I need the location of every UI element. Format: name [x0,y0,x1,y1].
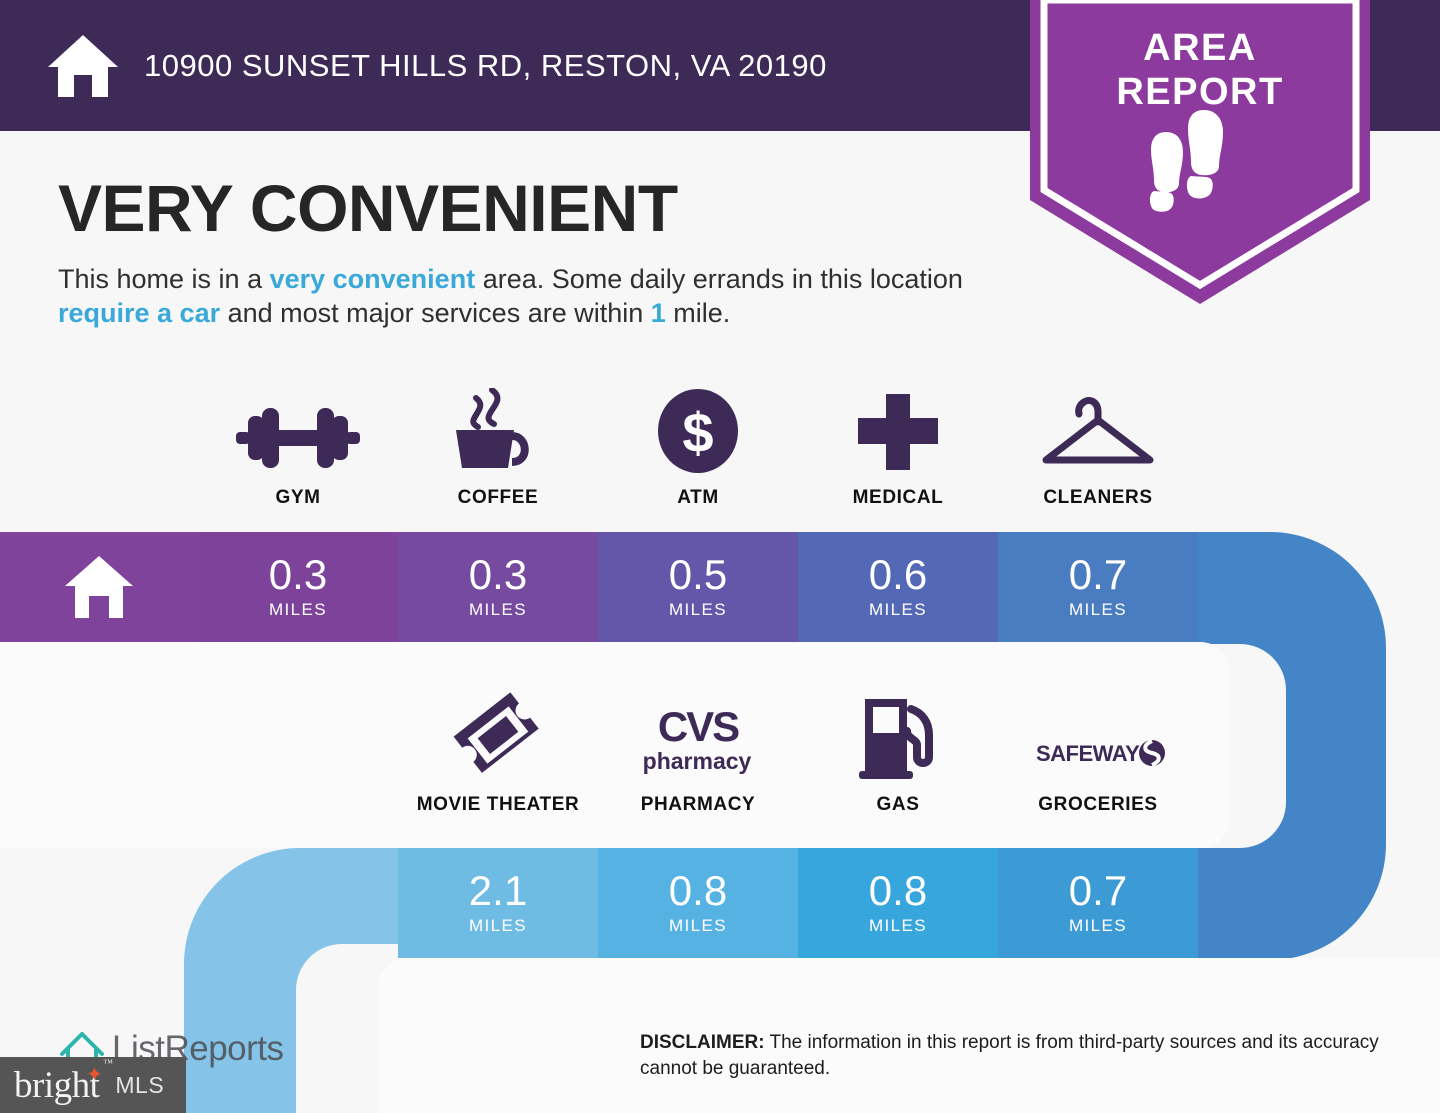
distance-segment-coffee: 0.3 MILES [398,532,598,642]
summary-description: This home is in a very convenient area. … [58,262,1018,330]
distance-segment-atm: 0.5 MILES [598,532,798,642]
distance-value: 0.7 [1069,870,1127,912]
distance-value: 0.3 [269,554,327,596]
distance-unit: MILES [469,916,527,936]
amenity-medical[interactable]: MEDICAL [798,388,998,509]
summary-highlight-2: require a car [58,298,220,328]
movie-ticket-icon [450,695,546,781]
disclaimer-label: DISCLAIMER: [640,1032,765,1053]
amenity-label: GYM [275,487,320,509]
svg-text:SAFEWAY: SAFEWAY [1036,741,1140,766]
amenity-label: PHARMACY [641,794,756,816]
gas-pump-icon [855,695,941,781]
svg-text:CVS: CVS [658,703,739,750]
summary-text-3: and most major services are within [220,298,651,328]
distance-value: 0.8 [869,870,927,912]
distance-unit: MILES [269,600,327,620]
distance-unit: MILES [869,600,927,620]
distance-segment-cleaners: 0.7 MILES [998,532,1198,642]
distance-segment-gas: 0.8 MILES [798,848,998,958]
summary-text-4: mile. [666,298,731,328]
distance-value: 2.1 [469,870,527,912]
amenity-icon-row-2: MOVIE THEATER CVS pharmacy PHARMACY GA [398,695,1198,816]
summary-highlight-3: 1 [651,298,666,328]
medical-cross-icon [855,388,941,474]
distance-unit: MILES [469,600,527,620]
mls-label: MLS [115,1072,164,1099]
summary-text-1: This home is in a [58,264,270,294]
coffee-cup-icon [448,388,548,474]
distance-value: 0.5 [669,554,727,596]
amenity-pharmacy[interactable]: CVS pharmacy PHARMACY [598,695,798,816]
area-report-badge: AREA REPORT [1030,0,1370,304]
bright-mls-watermark: bright ✦ ™ MLS [0,1057,186,1113]
distance-unit: MILES [1069,916,1127,936]
amenity-gym[interactable]: GYM [198,388,398,509]
amenity-movie-theater[interactable]: MOVIE THEATER [398,695,598,816]
distance-segment-gym: 0.3 MILES [198,532,398,642]
amenity-label: GROCERIES [1038,794,1157,816]
area-report-infographic: 10900 SUNSET HILLS RD, RESTON, VA 20190 … [0,0,1440,1113]
distance-segment-medical: 0.6 MILES [798,532,998,642]
amenity-label: CLEANERS [1043,487,1152,509]
amenity-label: ATM [677,487,719,509]
amenity-label: GAS [877,794,920,816]
amenity-icon-row-1: GYM COFFEE $ ATM [198,388,1198,509]
amenity-gas[interactable]: GAS [798,695,998,816]
safeway-logo: SAFEWAY [1028,695,1168,781]
amenity-atm[interactable]: $ ATM [598,388,798,509]
svg-text:pharmacy: pharmacy [643,748,752,774]
amenity-label: MEDICAL [853,487,944,509]
star-icon: ✦ [86,1062,102,1087]
home-icon [44,31,122,101]
property-address: 10900 SUNSET HILLS RD, RESTON, VA 20190 [144,48,827,84]
dollar-circle-icon: $ [655,388,741,474]
distance-unit: MILES [669,916,727,936]
dumbbell-icon [234,388,362,474]
bright-label: bright ✦ ™ [14,1064,99,1107]
amenity-label: MOVIE THEATER [417,794,580,816]
track-left-turn [184,848,398,1113]
distance-segment-pharmacy: 0.8 MILES [598,848,798,958]
distance-unit: MILES [869,916,927,936]
amenity-coffee[interactable]: COFFEE [398,388,598,509]
distance-segment-movie-theater: 2.1 MILES [398,848,598,958]
distance-value: 0.8 [669,870,727,912]
trademark-icon: ™ [103,1058,112,1069]
distance-unit: MILES [669,600,727,620]
distance-value: 0.3 [469,554,527,596]
disclaimer: DISCLAIMER: The information in this repo… [640,1030,1400,1082]
badge-label: AREA REPORT [1030,26,1370,114]
home-icon [63,554,135,620]
distance-value: 0.6 [869,554,927,596]
badge-line-2: REPORT [1030,70,1370,114]
clothes-hanger-icon [1038,388,1158,474]
summary-highlight-1: very convenient [270,264,476,294]
distance-unit: MILES [1069,600,1127,620]
svg-text:$: $ [682,401,713,464]
amenity-label: COFFEE [458,487,539,509]
page-title: VERY CONVENIENT [58,172,678,244]
track-start-home [0,532,198,642]
summary-text-2: area. Some daily errands in this locatio… [475,264,963,294]
badge-line-1: AREA [1030,26,1370,70]
distance-value: 0.7 [1069,554,1127,596]
distance-segment-groceries: 0.7 MILES [998,848,1198,958]
cvs-pharmacy-logo: CVS pharmacy [633,695,763,781]
amenity-groceries[interactable]: SAFEWAY GROCERIES [998,695,1198,816]
amenity-cleaners[interactable]: CLEANERS [998,388,1198,509]
